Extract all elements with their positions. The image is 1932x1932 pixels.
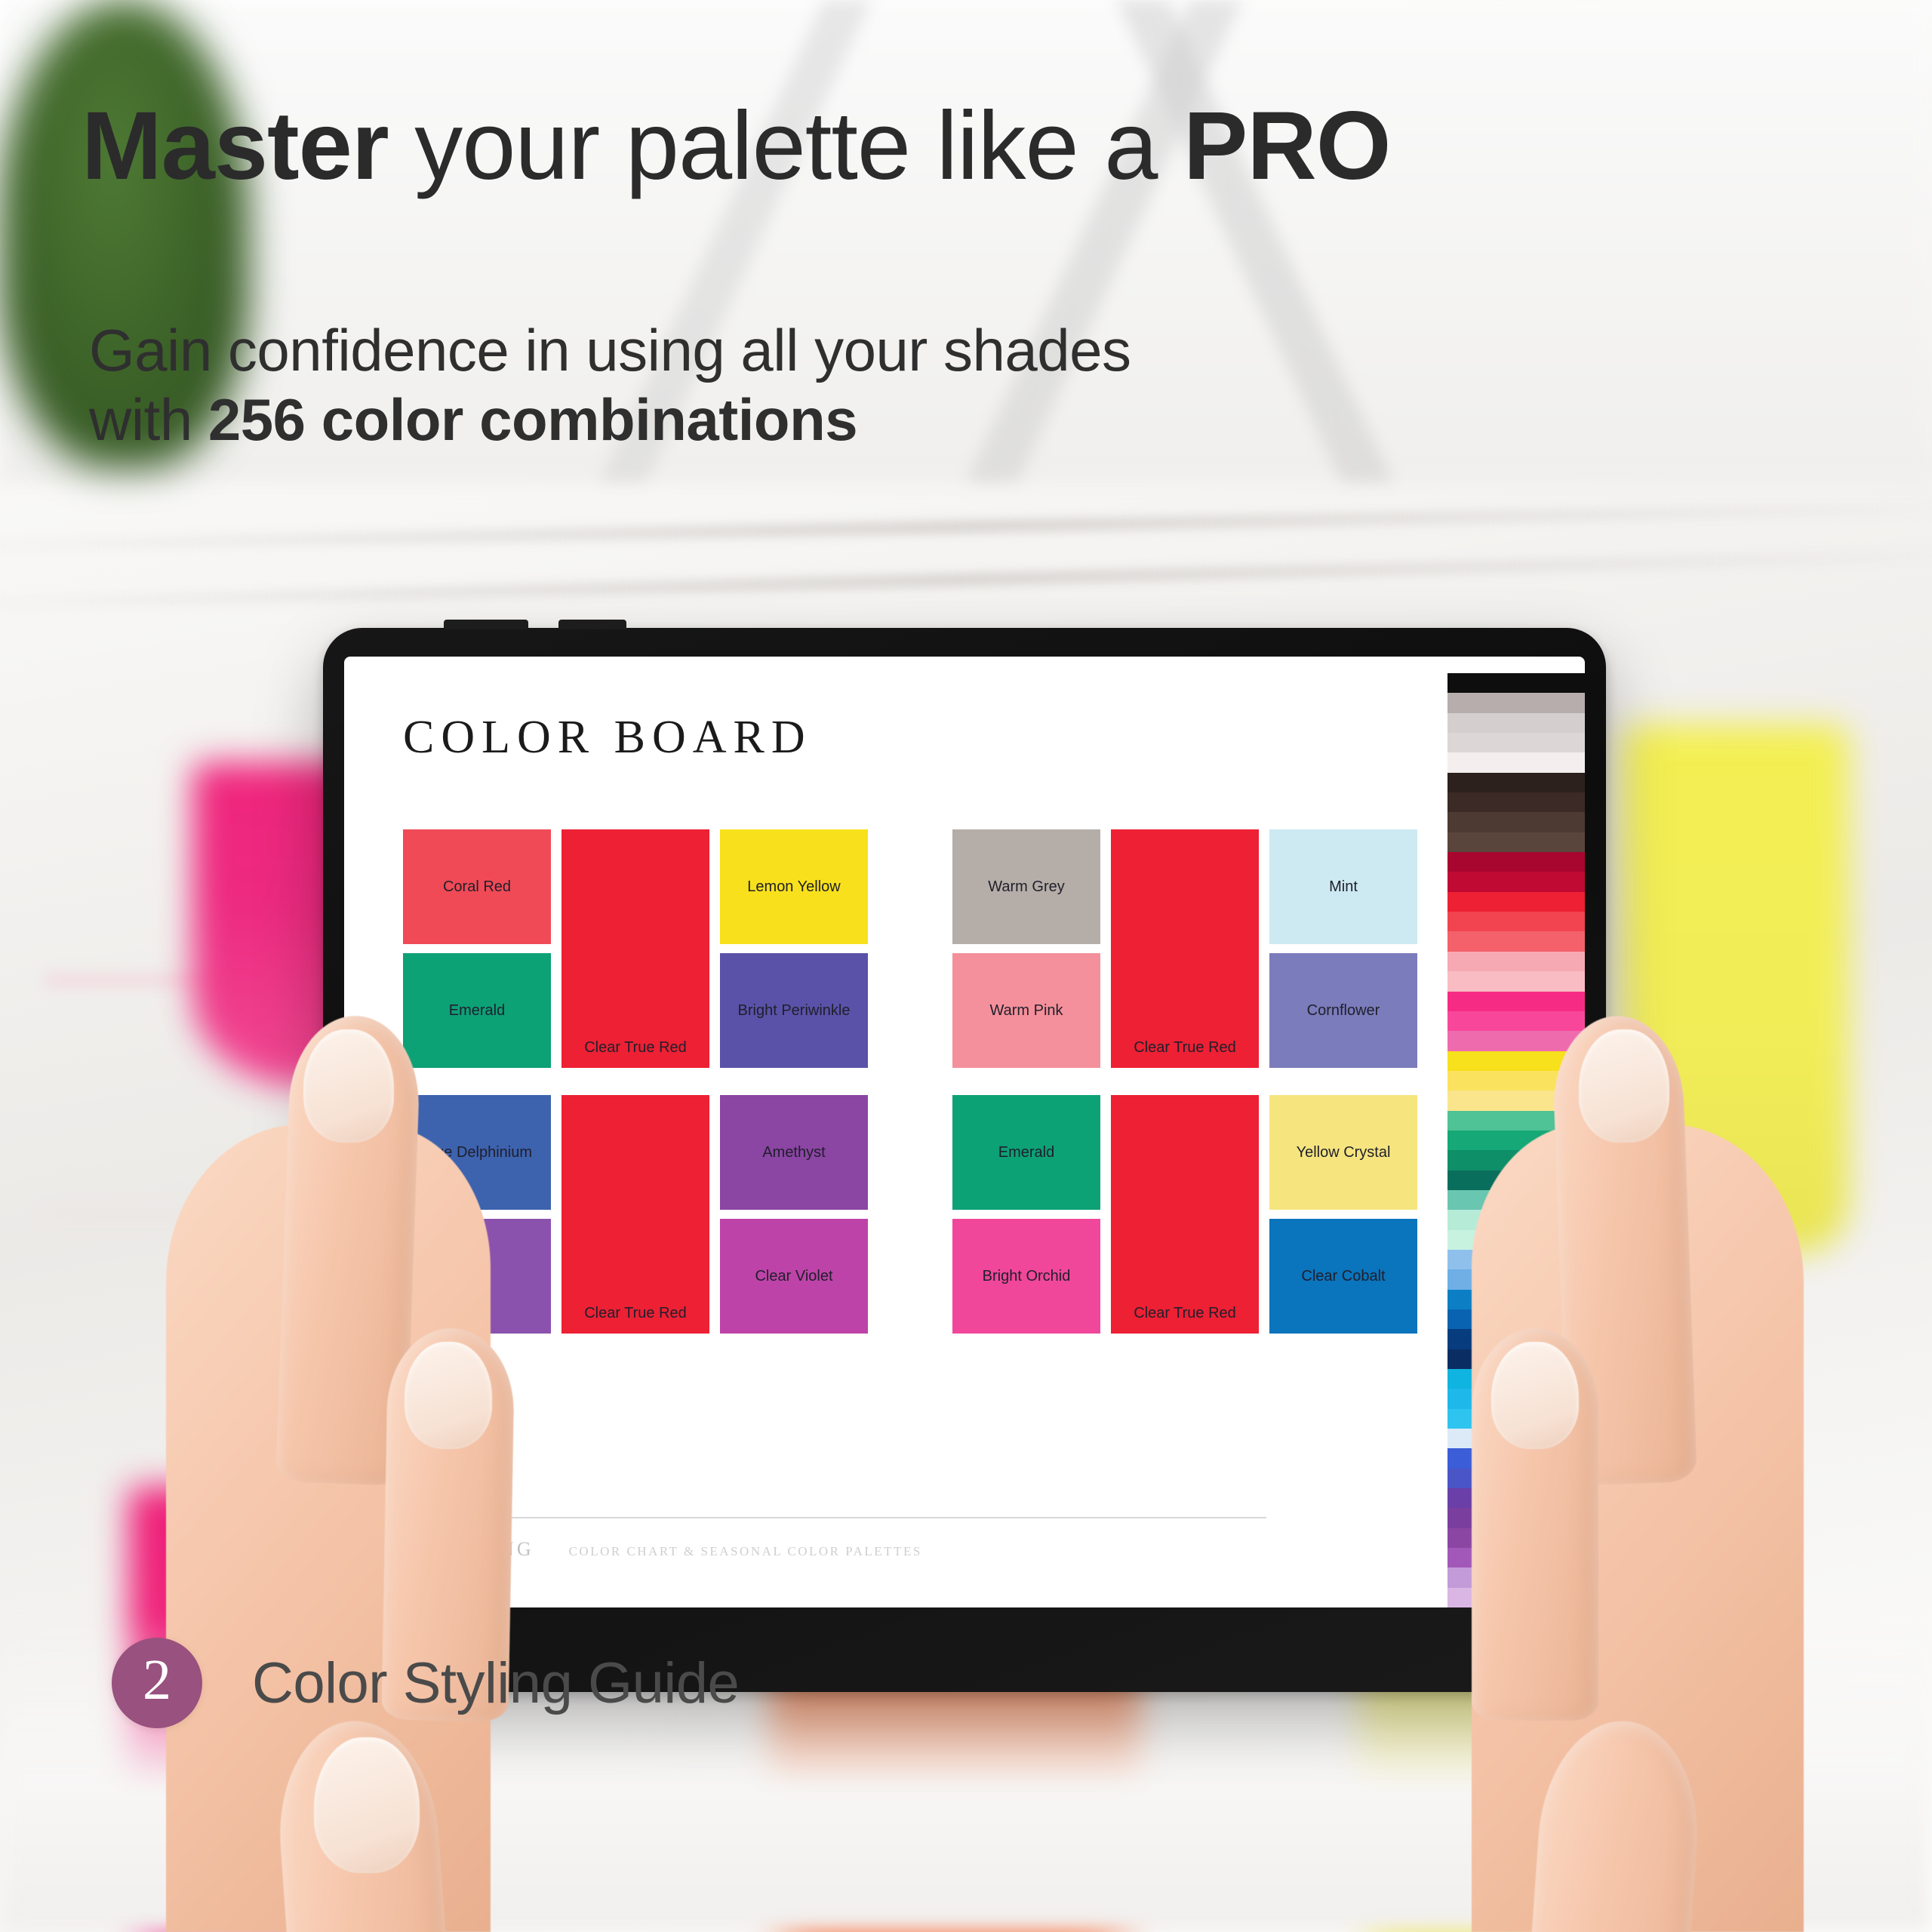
swatch-label: Bright Periwinkle <box>734 1002 855 1019</box>
volume-down-button[interactable] <box>558 620 626 629</box>
color-strip-band[interactable] <box>1447 693 1585 712</box>
swatch-tall[interactable]: Clear True Red <box>561 1095 709 1334</box>
left-hand <box>136 868 528 1932</box>
swatch-column-small: Yellow Crystal Clear Cobalt <box>1269 1095 1417 1334</box>
tablet-screen[interactable]: COLOR BOARD Coral Red Emerald <box>344 657 1585 1607</box>
swatch-label: Clear True Red <box>580 1039 691 1068</box>
swatch[interactable]: Mint <box>1269 829 1417 944</box>
headline-bold-start: Master <box>82 92 389 200</box>
swatch-row: Emerald Bright Orchid Clear True Red Yel… <box>952 1095 1417 1334</box>
volume-up-button[interactable] <box>444 620 528 629</box>
footer-subtitle: COLOR CHART & SEASONAL COLOR PALETTES <box>569 1544 922 1559</box>
left-index-fingernail <box>303 1029 394 1143</box>
swatch[interactable]: Yellow Crystal <box>1269 1095 1417 1210</box>
right-hand <box>1419 868 1826 1932</box>
swatch-label: Clear Violet <box>750 1268 837 1284</box>
swatch-column-small: Amethyst Clear Violet <box>720 1095 868 1334</box>
left-middle-fingernail <box>405 1342 492 1449</box>
swatch-column-small: Lemon Yellow Bright Periwinkle <box>720 829 868 1068</box>
color-strip-band[interactable] <box>1447 832 1585 852</box>
swatch-tall[interactable]: Clear True Red <box>1111 829 1259 1068</box>
color-strip-band[interactable] <box>1447 812 1585 832</box>
page-title: COLOR BOARD <box>403 711 1447 764</box>
step-badge: 2 <box>112 1638 202 1728</box>
footer-divider <box>403 1517 1266 1518</box>
swatch[interactable]: Warm Grey <box>952 829 1100 944</box>
swatch[interactable]: Warm Pink <box>952 953 1100 1068</box>
swatch[interactable]: Lemon Yellow <box>720 829 868 944</box>
swatch-row: Warm Grey Warm Pink Clear True Red Mint <box>952 829 1417 1068</box>
left-thumbnail <box>314 1737 420 1873</box>
swatch-label: Warm Pink <box>985 1002 1067 1019</box>
swatch-label: Clear True Red <box>1129 1039 1241 1068</box>
swatch-tall[interactable]: Clear True Red <box>1111 1095 1259 1334</box>
swatch[interactable]: Bright Periwinkle <box>720 953 868 1068</box>
swatch[interactable]: Emerald <box>952 1095 1100 1210</box>
color-strip-band[interactable] <box>1447 713 1585 733</box>
swatch-label: Lemon Yellow <box>743 878 844 895</box>
swatch-label: Yellow Crystal <box>1292 1144 1395 1161</box>
swatch[interactable]: Cornflower <box>1269 953 1417 1068</box>
swatch-label: Cornflower <box>1303 1002 1385 1019</box>
swatch-label: Emerald <box>994 1144 1059 1161</box>
swatch-label: Clear Cobalt <box>1297 1268 1389 1284</box>
guide-label: Color Styling Guide <box>252 1651 739 1716</box>
swatch-column-small: Mint Cornflower <box>1269 829 1417 1068</box>
swatch-label: Mint <box>1324 878 1362 895</box>
headline-middle: your palette like a <box>389 92 1183 200</box>
color-strip-band[interactable] <box>1447 752 1585 772</box>
swatch-column-small: Emerald Bright Orchid <box>952 1095 1100 1334</box>
swatch-label: Clear True Red <box>580 1305 691 1334</box>
subheadline-bold: 256 color combinations <box>208 386 857 453</box>
swatch-label: Warm Grey <box>983 878 1069 895</box>
step-badge-number: 2 <box>143 1651 171 1709</box>
subheadline-line-1: Gain confidence in using all your shades <box>89 315 1131 385</box>
swatch-grids: Coral Red Emerald Clear True Red Lemon Y… <box>403 829 1447 1334</box>
swatch[interactable]: Bright Orchid <box>952 1219 1100 1334</box>
bottom-bar: 2 Color Styling Guide <box>112 1638 739 1728</box>
right-middle-fingernail <box>1491 1342 1579 1449</box>
subheadline-line-2: with 256 color combinations <box>89 385 1131 454</box>
right-index-fingernail <box>1579 1029 1669 1143</box>
color-strip-band[interactable] <box>1447 673 1585 693</box>
color-strip-band[interactable] <box>1447 773 1585 792</box>
subheadline-prefix: with <box>89 386 208 453</box>
headline-bold-end: PRO <box>1183 92 1390 200</box>
swatch[interactable]: Clear Violet <box>720 1219 868 1334</box>
swatch[interactable]: Clear Cobalt <box>1269 1219 1417 1334</box>
swatch-tall[interactable]: Clear True Red <box>561 829 709 1068</box>
swatch[interactable]: Amethyst <box>720 1095 868 1210</box>
color-strip-band[interactable] <box>1447 733 1585 752</box>
page-headline: Master your palette like a PRO <box>82 91 1390 202</box>
swatch-label: Clear True Red <box>1129 1305 1241 1334</box>
page-subheadline: Gain confidence in using all your shades… <box>89 315 1131 454</box>
swatch-grid-right: Warm Grey Warm Pink Clear True Red Mint <box>952 829 1417 1334</box>
swatch-column-small: Warm Grey Warm Pink <box>952 829 1100 1068</box>
swatch-label: Bright Orchid <box>978 1268 1075 1284</box>
swatch-label: Amethyst <box>758 1144 829 1161</box>
color-strip-band[interactable] <box>1447 792 1585 812</box>
